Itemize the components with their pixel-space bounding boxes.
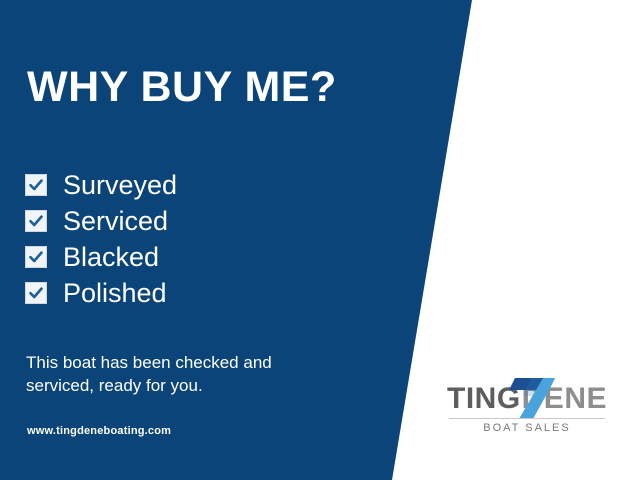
checklist-item-label: Surveyed — [63, 172, 177, 199]
list-item: Serviced — [25, 203, 177, 239]
checklist-item-label: Serviced — [63, 208, 168, 235]
checkbox-checked — [25, 282, 47, 304]
checkbox-checked — [25, 246, 47, 268]
checklist-item-label: Polished — [63, 280, 167, 307]
list-item: Surveyed — [25, 167, 177, 203]
slide-canvas: WHY BUY ME? Surveyed Serviced — [0, 0, 640, 480]
logo-tagline: BOAT SALES — [447, 422, 607, 434]
list-item: Polished — [25, 275, 177, 311]
logo-divider — [449, 418, 605, 419]
checkbox-checked — [25, 210, 47, 232]
feature-checklist: Surveyed Serviced Blacked — [25, 167, 177, 311]
website-url[interactable]: www.tingdeneboating.com — [27, 425, 171, 437]
checkbox-checked — [25, 174, 47, 196]
page-title: WHY BUY ME? — [27, 66, 337, 109]
logo-wordmark: TING DENE — [447, 378, 607, 416]
checklist-item-label: Blacked — [63, 244, 159, 271]
brand-logo: TING DENE BOAT SALES — [447, 378, 607, 440]
list-item: Blacked — [25, 239, 177, 275]
body-paragraph: This boat has been checked and serviced,… — [26, 352, 326, 398]
tingdene-seven-mark-icon — [509, 376, 557, 420]
